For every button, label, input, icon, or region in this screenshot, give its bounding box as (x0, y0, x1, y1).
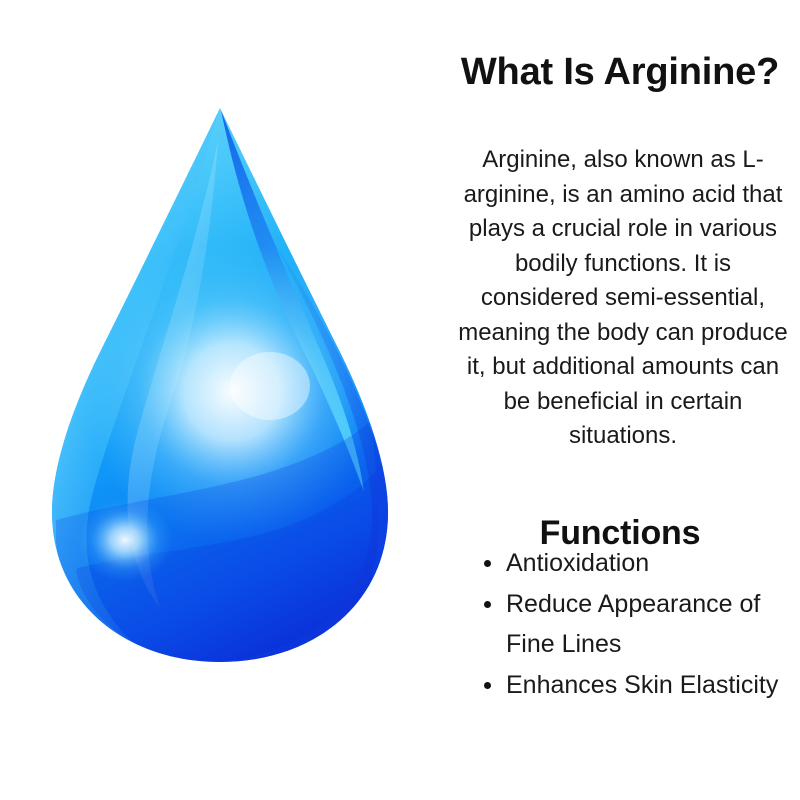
bullet-dot-icon (484, 601, 491, 608)
list-item: Enhances Skin Elasticity (462, 665, 800, 705)
list-item-label: Antioxidation (506, 549, 649, 577)
bullet-dot-icon (484, 560, 491, 567)
list-item-label: Enhances Skin Elasticity (506, 671, 778, 699)
bullet-dot-icon (484, 682, 491, 689)
text-panel: What Is Arginine? Arginine, also known a… (440, 0, 800, 800)
droplet-specular-spot (77, 498, 173, 582)
intro-paragraph: Arginine, also known as L-arginine, is a… (454, 143, 792, 454)
infographic-page: What Is Arginine? Arginine, also known a… (0, 0, 800, 800)
list-item: Reduce Appearance of Fine Lines (462, 584, 800, 664)
droplet-pinpoint-highlight (230, 352, 310, 420)
water-droplet-icon (20, 100, 420, 670)
illustration-panel (0, 0, 440, 800)
list-item-label: Reduce Appearance of Fine Lines (506, 590, 760, 658)
list-item: Antioxidation (462, 543, 800, 583)
functions-list: Antioxidation Reduce Appearance of Fine … (462, 543, 800, 706)
page-title: What Is Arginine? (440, 47, 800, 98)
